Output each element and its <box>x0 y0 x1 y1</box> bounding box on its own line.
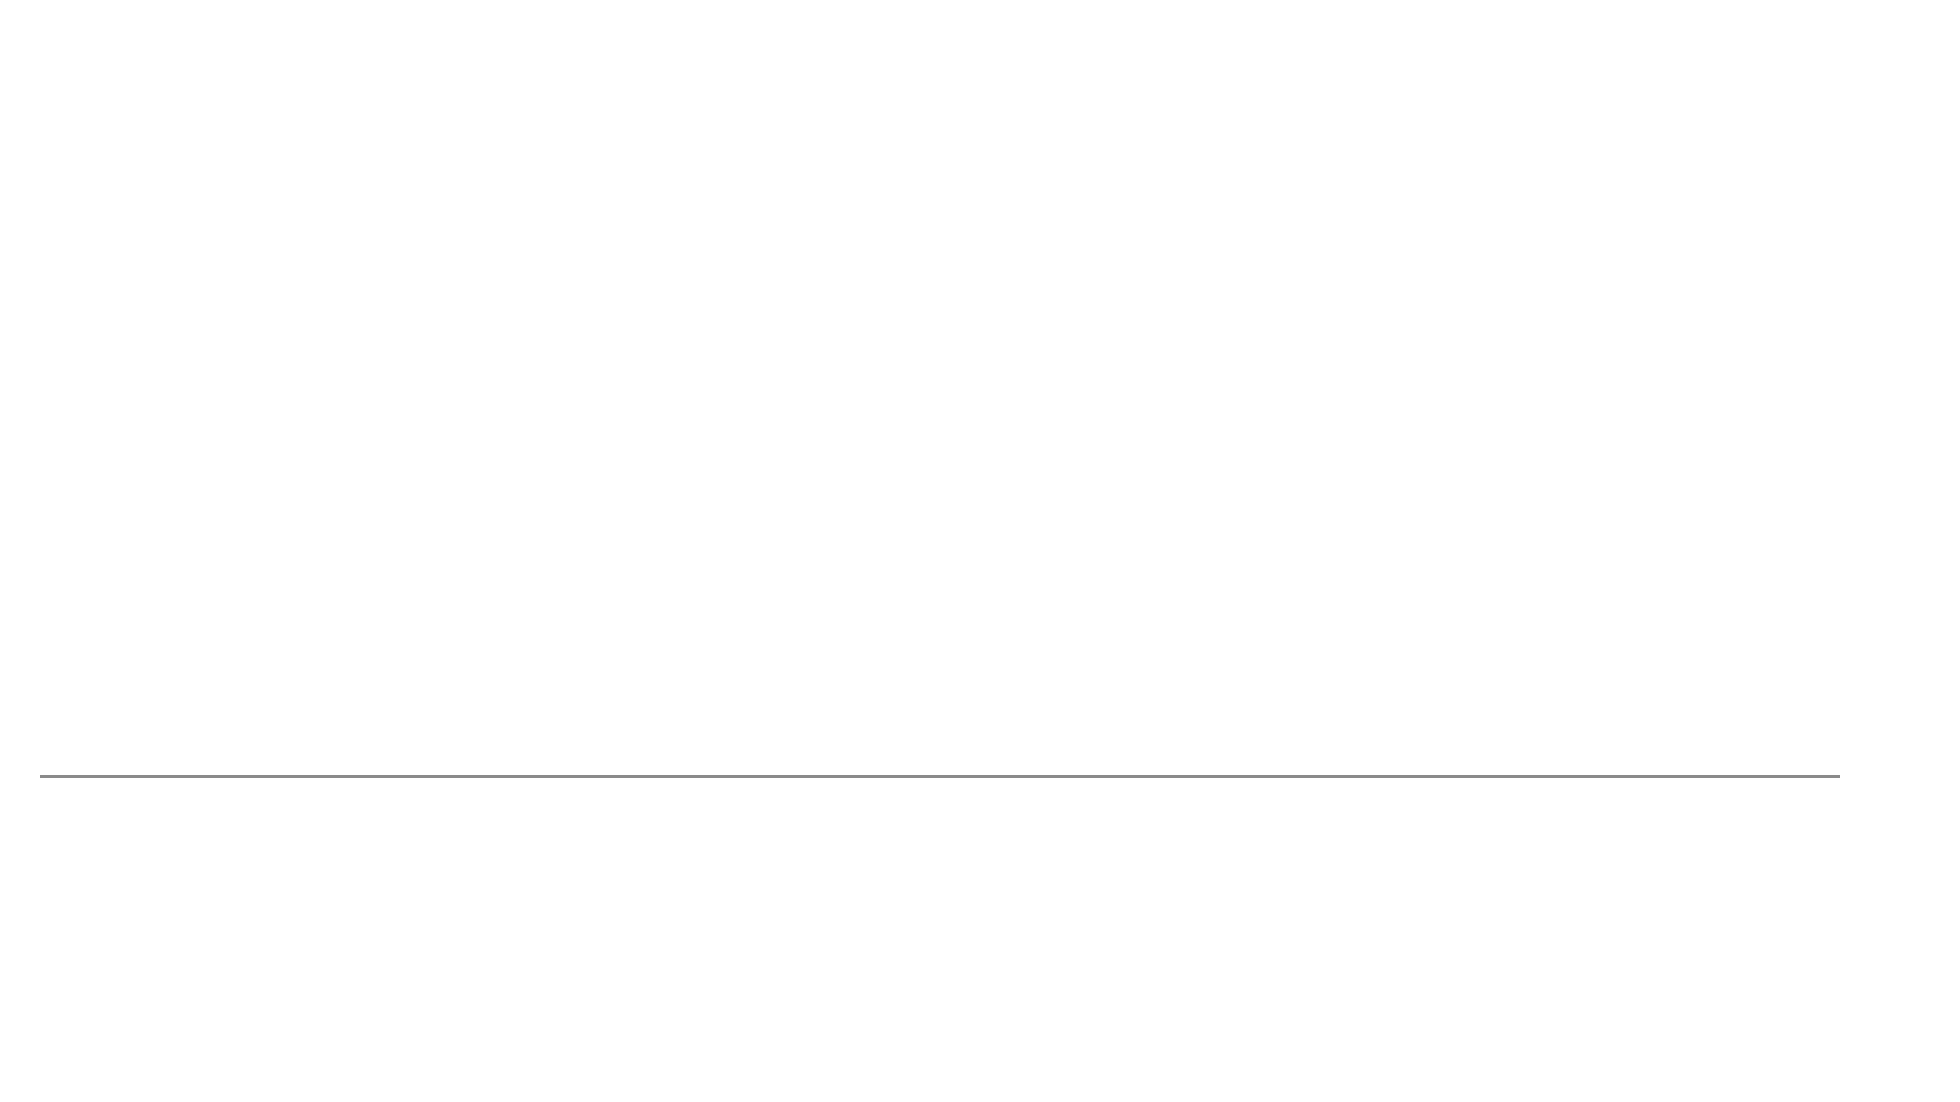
signal-marker-band <box>40 730 1840 770</box>
chart-plot-area <box>40 78 1840 710</box>
plot-inner <box>40 78 1840 710</box>
x-axis-spine <box>40 775 1840 778</box>
chart-page <box>0 0 1960 1102</box>
